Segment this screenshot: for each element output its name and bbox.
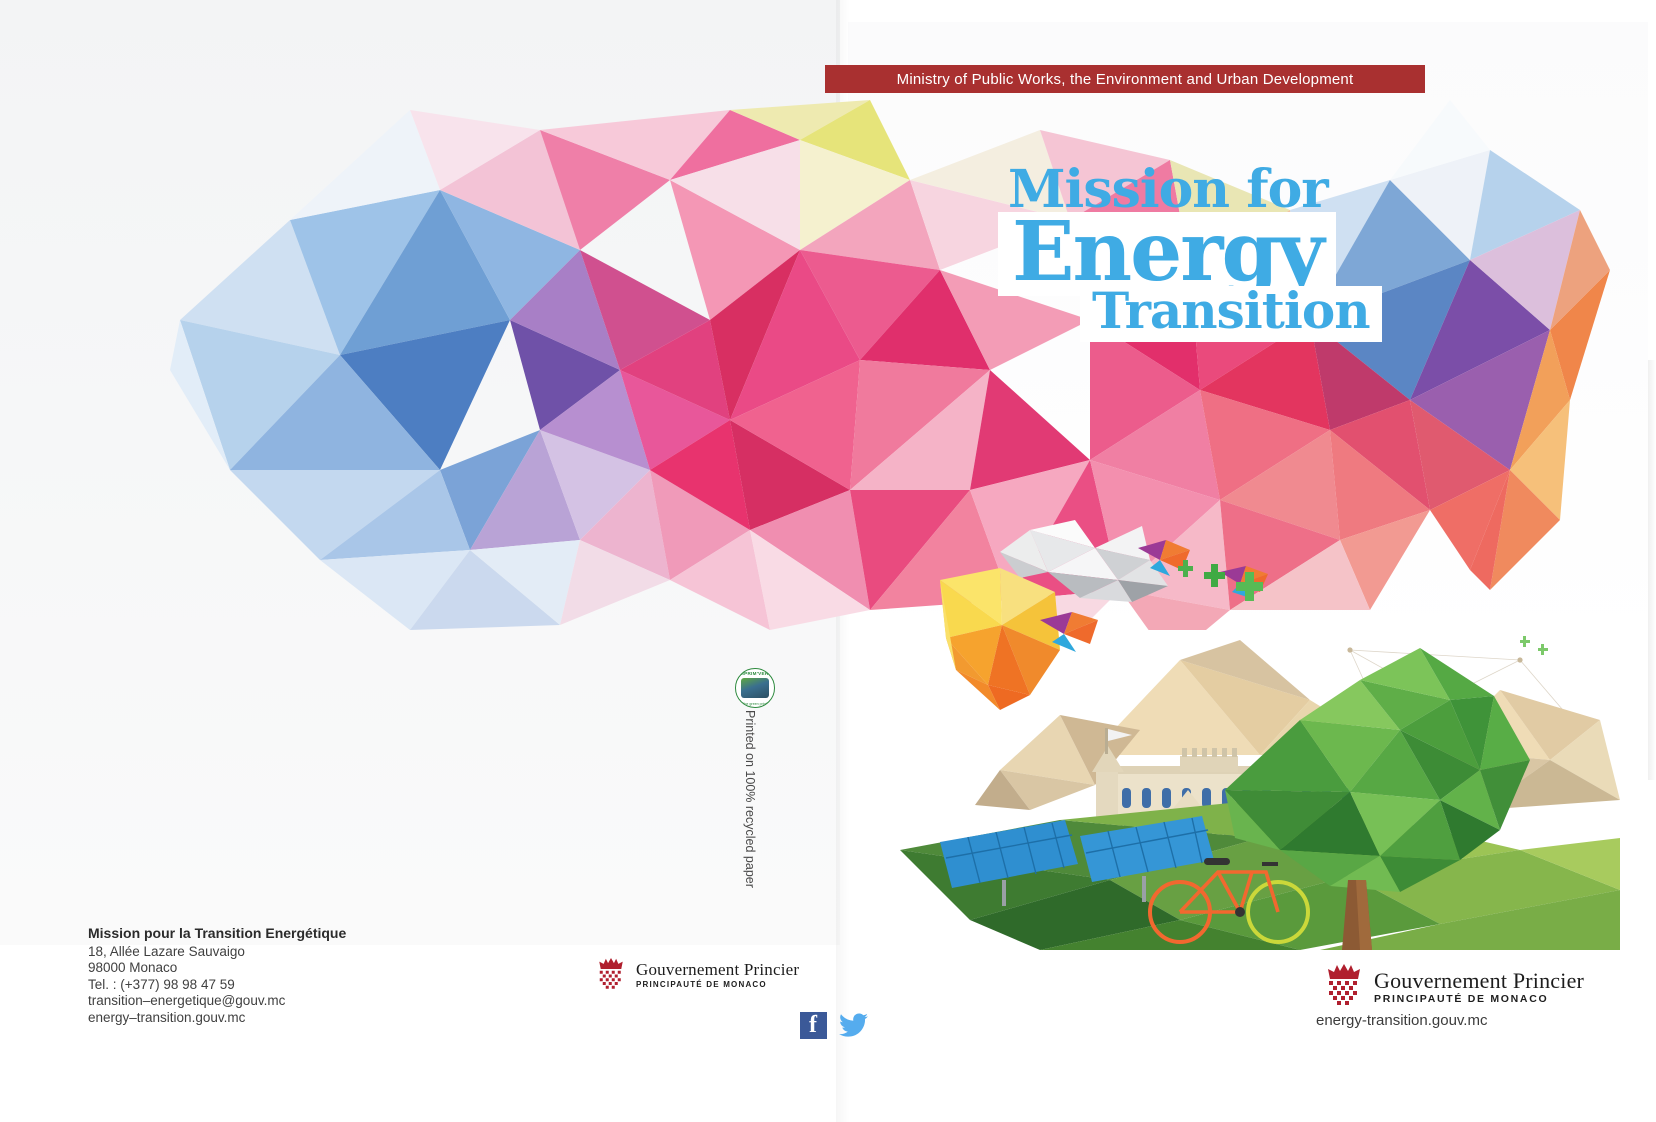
brochure-spread: Ministry of Public Works, the Environmen… [0, 0, 1656, 1122]
social-links [800, 1012, 868, 1039]
eco-badge-top-text: IMPRIM'VERT [736, 671, 774, 676]
title-line-3-plate: Transition [1080, 286, 1382, 342]
monaco-crown-shield-icon [596, 958, 626, 992]
facebook-icon[interactable] [800, 1012, 827, 1039]
recycled-paper-text: Printed on 100% recycled paper [743, 710, 757, 888]
front-cover-website[interactable]: energy-transition.gouv.mc [1316, 1012, 1487, 1029]
contact-website[interactable]: energy–transition.gouv.mc [88, 1010, 346, 1027]
imprim-vert-eco-badge: IMPRIM'VERT the green print [735, 668, 775, 708]
gouvernement-princier-logo-back: Gouvernement Princier PRINCIPAUTÉ DE MON… [596, 958, 799, 992]
contact-block: Mission pour la Transition Energétique 1… [88, 925, 346, 1026]
twitter-icon[interactable] [839, 1012, 868, 1039]
monaco-crown-shield-icon-front [1324, 964, 1364, 1010]
contact-org: Mission pour la Transition Energétique [88, 925, 346, 942]
logo-text-front: Gouvernement Princier PRINCIPAUTÉ DE MON… [1374, 969, 1584, 1005]
front-edge-shadow [1648, 360, 1656, 780]
crown-icon [599, 958, 623, 969]
title-line-3: Transition [1092, 286, 1370, 336]
logo-main-text-front: Gouvernement Princier [1374, 969, 1584, 992]
logo-main-text-back: Gouvernement Princier [636, 961, 799, 979]
back-cover-page [0, 0, 840, 945]
contact-phone: Tel. : (+377) 98 98 47 59 [88, 977, 346, 994]
contact-address-2: 98000 Monaco [88, 960, 346, 977]
logo-sub-text-front: PRINCIPAUTÉ DE MONACO [1374, 993, 1584, 1005]
logo-text-back: Gouvernement Princier PRINCIPAUTÉ DE MON… [636, 961, 799, 989]
contact-email[interactable]: transition–energetique@gouv.mc [88, 993, 346, 1010]
shield-icon-front [1328, 980, 1360, 1008]
cover-title: Mission for Energy Transition [960, 165, 1480, 342]
eco-badge-bottom-text: the green print [736, 702, 774, 706]
contact-address-1: 18, Allée Lazare Sauvaigo [88, 944, 346, 961]
logo-sub-text-back: PRINCIPAUTÉ DE MONACO [636, 980, 799, 989]
eco-badge-image [741, 678, 769, 698]
spine-shadow [836, 0, 850, 1122]
recycled-paper-note: Printed on 100% recycled paper [739, 710, 761, 900]
shield-icon [599, 970, 623, 991]
crown-icon-front [1328, 964, 1360, 979]
ministry-banner: Ministry of Public Works, the Environmen… [825, 65, 1425, 93]
